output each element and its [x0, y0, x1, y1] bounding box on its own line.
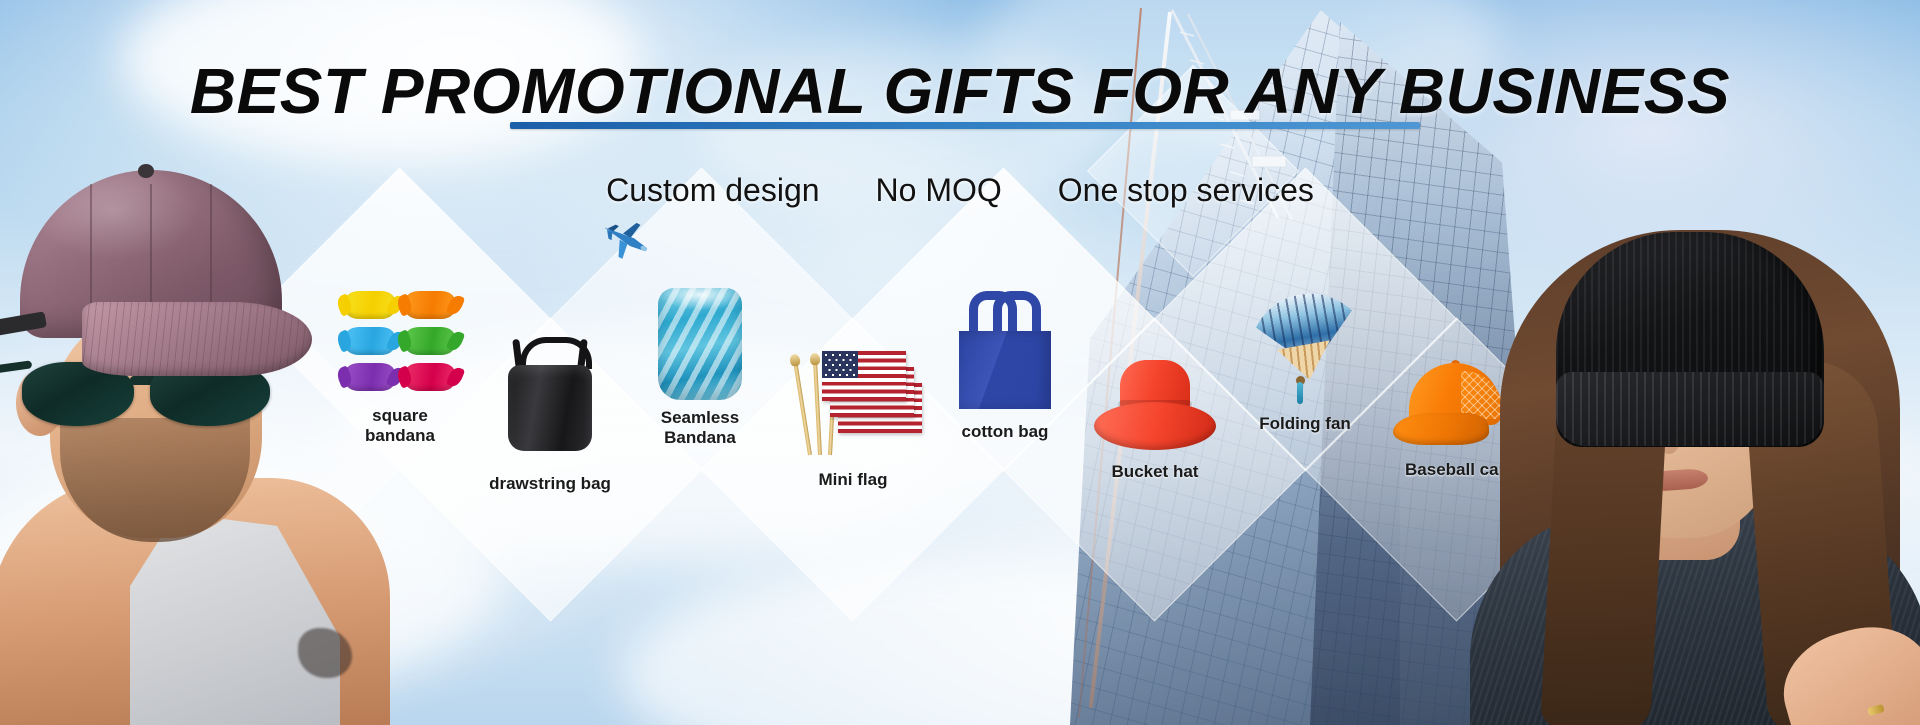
product-label: Mini flag	[738, 470, 968, 490]
tagline-no-moq: No MOQ	[876, 172, 1002, 209]
promotional-banner: square bandana drawstring bag Seamless B…	[0, 0, 1920, 725]
product-label: Bucket hat	[1040, 462, 1270, 482]
tagline-one-stop-services: One stop services	[1058, 172, 1314, 209]
man-wearing-baseball-cap-photo	[0, 118, 400, 725]
tagline-row: Custom design No MOQ One stop services	[0, 172, 1920, 209]
title-underline-rule	[510, 122, 1420, 129]
airplane-icon	[598, 216, 654, 262]
page-title: BEST PROMOTIONAL GIFTS FOR ANY BUSINESS	[0, 54, 1920, 128]
product-label: drawstring bag	[435, 474, 665, 494]
tagline-custom-design: Custom design	[606, 172, 819, 209]
